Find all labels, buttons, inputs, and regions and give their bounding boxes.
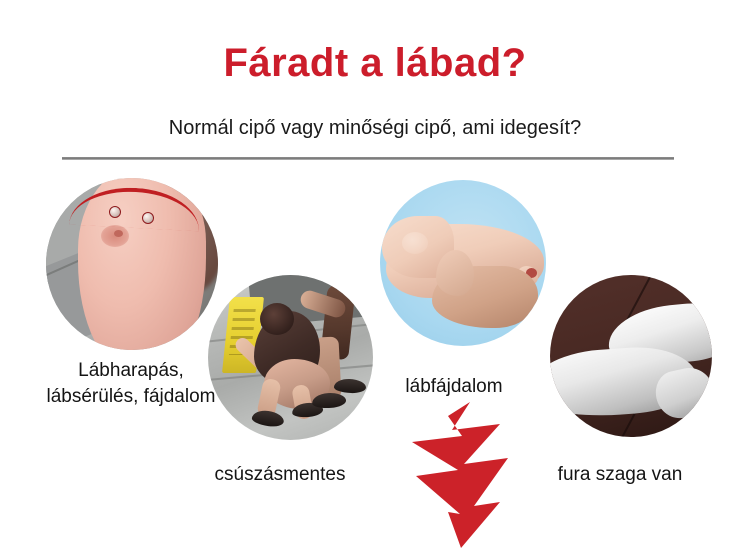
foot-massage-illustration (380, 180, 546, 346)
feature-label-foot-pain: lábfájdalom (374, 374, 534, 400)
feature-image-foot-bite (46, 178, 218, 350)
feature-label-foot-bite-line2: lábsérülés, fájdalom (8, 384, 254, 410)
feature-label-foot-bite: Lábharapás, lábsérülés, fájdalom (8, 358, 254, 409)
feature-label-slip: csúszásmentes (185, 462, 375, 488)
page-subtitle: Normál cipő vagy minőségi cipő, ami ideg… (0, 117, 750, 139)
feature-label-odor: fura szaga van (520, 462, 720, 488)
page-title: Fáradt a lábad? (0, 42, 750, 84)
red-zigzag-down-arrow-icon (404, 402, 514, 548)
foot-bite-illustration (46, 178, 218, 350)
feature-image-odor (550, 275, 712, 437)
feature-image-foot-pain (380, 180, 546, 346)
feature-label-foot-bite-line1: Lábharapás, (8, 358, 254, 384)
header-divider (62, 157, 674, 160)
poster-canvas: Fáradt a lábad? Normál cipő vagy minőség… (0, 0, 750, 552)
socks-illustration (550, 275, 712, 437)
